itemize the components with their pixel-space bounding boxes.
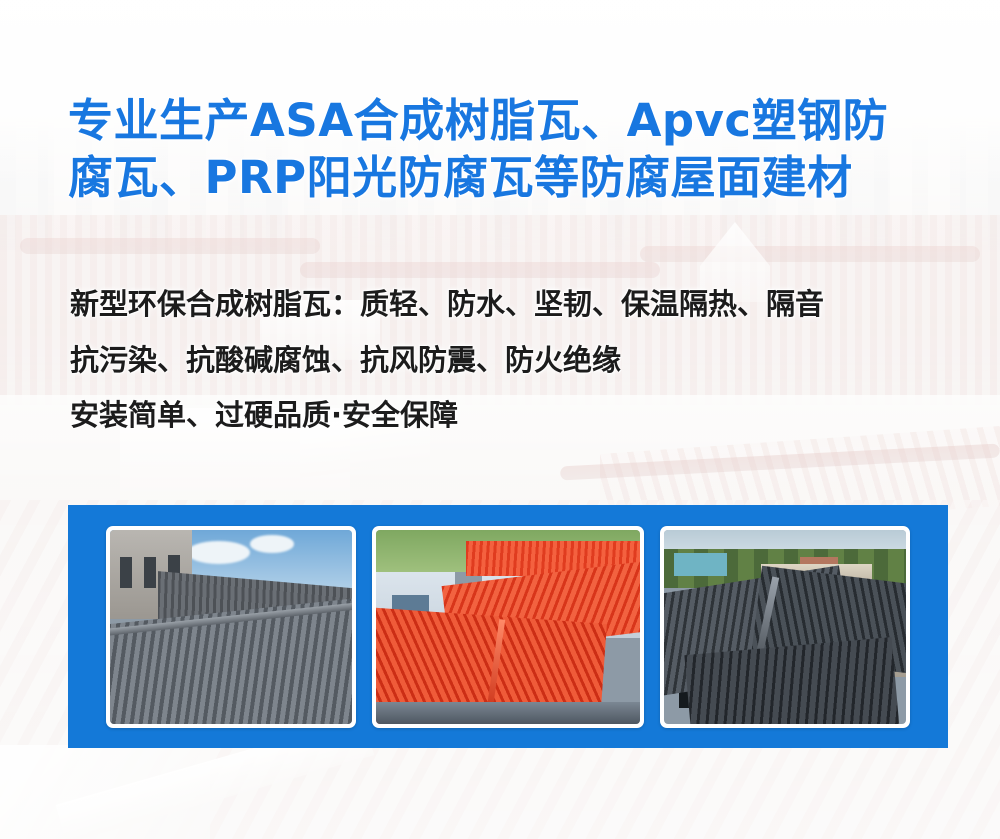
headline-line-2: 腐瓦、PRP阳光防腐瓦等防腐屋面建材 — [68, 149, 948, 206]
window-shape — [144, 557, 156, 588]
window-shape — [120, 557, 132, 588]
headline: 专业生产ASA合成树脂瓦、Apvc塑钢防 腐瓦、PRP阳光防腐瓦等防腐屋面建材 — [68, 92, 948, 206]
blue-roof-building — [674, 553, 727, 576]
photo-frame — [376, 530, 640, 724]
black-resin-tile-roof-photo[interactable] — [660, 526, 910, 728]
cloud-shape — [250, 535, 294, 552]
photo-frame — [110, 530, 352, 724]
feature-line-2: 抗污染、抗酸碱腐蚀、抗风防震、防火绝缘 — [70, 332, 970, 388]
headline-line-1: 专业生产ASA合成树脂瓦、Apvc塑钢防 — [68, 92, 948, 149]
feature-line-1: 新型环保合成树脂瓦：质轻、防水、坚韧、保温隔热、隔音 — [70, 276, 970, 332]
red-resin-tile-roof-photo[interactable] — [372, 526, 644, 728]
grey-resin-tile-roof-photo[interactable] — [106, 526, 356, 728]
promo-banner: 专业生产ASA合成树脂瓦、Apvc塑钢防 腐瓦、PRP阳光防腐瓦等防腐屋面建材 … — [0, 0, 1000, 839]
product-photo-gallery — [68, 505, 948, 748]
feature-list: 新型环保合成树脂瓦：质轻、防水、坚韧、保温隔热、隔音 抗污染、抗酸碱腐蚀、抗风防… — [70, 276, 970, 442]
feature-line-3: 安装简单、过硬品质·安全保障 — [70, 388, 970, 442]
gutter-edge — [376, 702, 640, 723]
photo-frame — [664, 530, 906, 724]
